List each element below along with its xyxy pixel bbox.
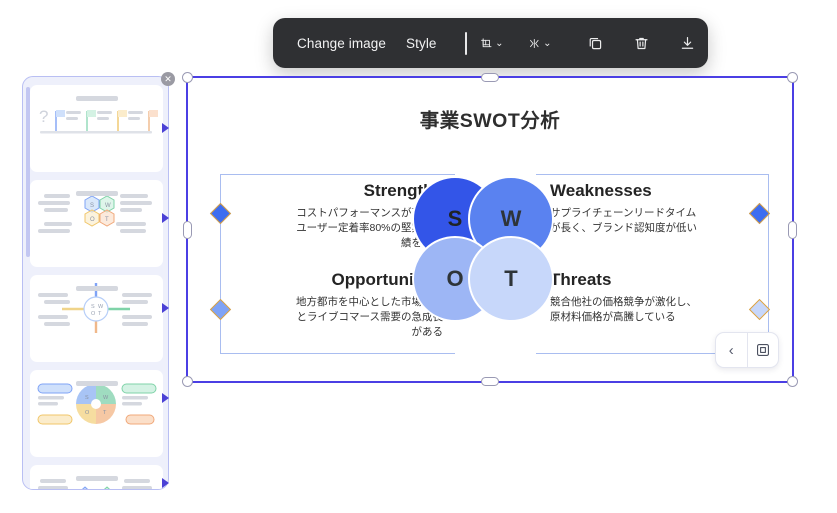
thumbnail-title-bar: [76, 476, 118, 481]
delete-button[interactable]: [627, 28, 657, 58]
align-button[interactable]: ⌄: [525, 28, 555, 58]
download-button[interactable]: [673, 28, 703, 58]
style-swatch[interactable]: [465, 32, 467, 55]
close-panel-button[interactable]: ✕: [161, 72, 175, 86]
thumbnail-apply-arrow[interactable]: [162, 478, 169, 488]
quadrant-body: 競合他社の価格競争が激化し、原材料価格が高騰している: [550, 295, 705, 325]
resize-handle-top-center[interactable]: [481, 73, 499, 82]
venn-circle-threats: T: [468, 236, 554, 322]
resize-handle-top-left[interactable]: [182, 72, 193, 83]
thumbnail-title-bar: [76, 191, 118, 196]
resize-handle-bottom-right[interactable]: [787, 376, 798, 387]
list-item[interactable]: SWOT: [30, 275, 163, 362]
template-thumbnail-panel[interactable]: ?: [22, 76, 169, 490]
thumbnail-apply-arrow[interactable]: [162, 123, 169, 133]
svg-text:S: S: [90, 203, 94, 209]
list-item[interactable]: SWOT: [30, 370, 163, 457]
crop-caret-icon: ⌄: [495, 38, 503, 49]
crop-button[interactable]: ⌄: [477, 28, 507, 58]
list-item[interactable]: SW: [30, 465, 163, 490]
image-toolbar: Change image Style ⌄ ⌄: [273, 18, 708, 68]
svg-text:W: W: [103, 395, 109, 401]
quadrant-body: サプライチェーンリードタイムが長く、ブランド認知度が低い: [550, 206, 705, 236]
selected-image-object[interactable]: 事業SWOT分析 Strengths コストパフォーマンスが高く、ユーザー定着率…: [186, 76, 794, 383]
thumbnail-apply-arrow[interactable]: [162, 393, 169, 403]
svg-text:O: O: [90, 217, 95, 223]
list-item[interactable]: SWOT: [30, 180, 163, 267]
svg-text:?: ?: [39, 107, 48, 126]
svg-text:O: O: [91, 311, 96, 317]
resize-handle-bottom-center[interactable]: [481, 377, 499, 386]
venn-diagram: S W O T: [412, 176, 572, 356]
svg-text:S: S: [91, 304, 95, 310]
resize-handle-middle-left[interactable]: [183, 221, 192, 239]
thumbnail-title-bar: [76, 381, 118, 386]
thumbnail-apply-arrow[interactable]: [162, 303, 169, 313]
svg-text:W: W: [105, 203, 111, 209]
resize-handle-middle-right[interactable]: [788, 221, 797, 239]
resize-handle-top-right[interactable]: [787, 72, 798, 83]
svg-text:O: O: [85, 410, 90, 416]
copy-button[interactable]: [581, 28, 611, 58]
svg-text:W: W: [98, 304, 104, 310]
align-caret-icon: ⌄: [543, 38, 551, 49]
svg-text:T: T: [105, 217, 109, 223]
svg-text:S: S: [85, 395, 89, 401]
thumbnail-title-bar: [76, 286, 118, 291]
back-button[interactable]: ‹: [716, 333, 747, 367]
frame-button[interactable]: [748, 333, 779, 367]
resize-handle-bottom-left[interactable]: [182, 376, 193, 387]
page-title: 事業SWOT分析: [188, 104, 792, 133]
style-button[interactable]: Style: [396, 29, 447, 58]
thumbnail-apply-arrow[interactable]: [162, 213, 169, 223]
thumbnail-title-bar: [76, 96, 118, 101]
change-image-button[interactable]: Change image: [287, 29, 396, 58]
thumbnail-graphic-flags: ?: [30, 85, 163, 150]
app-root: Change image Style ⌄ ⌄: [0, 0, 837, 513]
list-item[interactable]: ?: [30, 85, 163, 172]
image-mini-control: ‹: [715, 332, 779, 368]
